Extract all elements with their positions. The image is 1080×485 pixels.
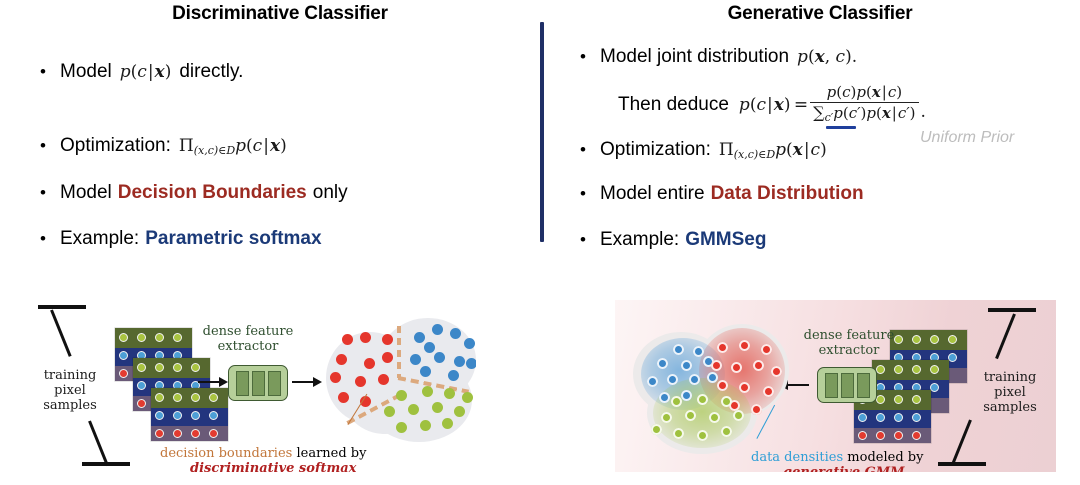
bayes-fraction: p(c)p(x|c) ∑c′p(c′)p(x|c′): [810, 84, 918, 125]
training-label: training pixel samples: [30, 368, 110, 413]
bullet-model-posterior: • Model p(c|x) directly.: [40, 60, 243, 84]
bullet-text-prefix: Example:: [60, 227, 139, 251]
extractor-label: dense feature extractor: [793, 328, 905, 358]
figure-caption-line2: generative GMM: [783, 465, 905, 472]
bullet-text-prefix: Optimization:: [60, 134, 171, 158]
bullet-text-suffix: only: [313, 181, 348, 205]
dense-feature-extractor: [228, 365, 288, 401]
bullet-decision-boundaries: • Model Decision Boundaries only: [40, 181, 348, 205]
caption-rest: modeled by: [847, 450, 923, 465]
uniform-prior-annotation: Uniform Prior: [920, 129, 1014, 147]
bullet-glyph: •: [580, 138, 600, 162]
math-bayes-rule: p(c|x) = p(c)p(x|c) ∑c′p(c′)p(x|c′) .: [739, 85, 926, 126]
slide-root: Discriminative Classifier Generative Cla…: [0, 0, 1080, 485]
bullet-example-right: • Example: GMMSeg: [580, 228, 766, 252]
bullet-then-deduce: Then deduce p(c|x) = p(c)p(x|c) ∑c′p(c′)…: [618, 85, 926, 126]
then-deduce-label: Then deduce: [618, 93, 729, 117]
bracket-bottom-slash: [88, 420, 109, 466]
bracket-top-slash: [50, 309, 72, 356]
figure-caption-line1: data densities modeled by: [751, 450, 923, 465]
bullet-glyph: •: [580, 182, 600, 206]
caption-rest: learned by: [296, 446, 366, 461]
bracket-bottom-bar: [938, 462, 986, 466]
bullet-optimization-left: • Optimization: Π(x,c)∈Dp(c|x): [40, 134, 287, 163]
figure-caption-line2: discriminative softmax: [190, 461, 356, 472]
bullet-glyph: •: [40, 134, 60, 158]
column-divider: [540, 22, 544, 242]
math-optimization-left: Π(x,c)∈Dp(c|x): [179, 134, 287, 163]
bracket-top-bar: [38, 305, 86, 309]
left-column-title: Discriminative Classifier: [80, 3, 480, 25]
bullet-glyph: •: [40, 227, 60, 251]
bullet-text-prefix: Model: [60, 60, 112, 84]
fraction-denominator: ∑c′p(c′)p(x|c′): [810, 102, 918, 125]
sample-tile-3: [151, 388, 228, 441]
math-joint: p(x, c).: [797, 45, 857, 69]
bullet-text-prefix: Optimization:: [600, 138, 711, 162]
highlight-parametric-softmax: Parametric softmax: [145, 227, 321, 251]
decision-boundary-vertical: [397, 326, 401, 378]
discriminative-softmax-figure: training pixel samples dense feature ext…: [30, 296, 476, 472]
cloud-lobe: [342, 354, 428, 434]
math-optimization-right: Π(x,c)∈Dp(x|c): [719, 138, 827, 167]
bullet-glyph: •: [40, 60, 60, 84]
arrow-into-extractor: [198, 381, 220, 383]
bullet-data-distribution: • Model entire Data Distribution: [580, 182, 864, 206]
bullet-example-left: • Example: Parametric softmax: [40, 227, 322, 251]
bullet-joint-distribution: • Model joint distribution p(x, c).: [580, 45, 857, 69]
caption-emphasis: decision boundaries: [160, 446, 292, 461]
bullet-text-prefix: Example:: [600, 228, 679, 252]
bullet-text-prefix: Model joint distribution: [600, 45, 789, 69]
bullet-text-suffix: directly.: [179, 60, 243, 84]
figure-caption-line1: decision boundaries learned by: [160, 446, 366, 461]
math-posterior: p(c|x): [120, 60, 172, 84]
arrow-out-of-extractor: [787, 384, 809, 386]
density-cloud: [625, 316, 790, 456]
feature-space-cloud: [322, 314, 476, 444]
bullet-optimization-right: • Optimization: Π(x,c)∈Dp(x|c): [580, 138, 827, 167]
bullet-text-prefix: Model entire: [600, 182, 705, 206]
uniform-prior-underline: [826, 126, 856, 129]
bullet-glyph: •: [40, 181, 60, 205]
caption-emphasis: data densities: [751, 450, 843, 465]
fraction-numerator: p(c)p(x|c): [824, 84, 905, 102]
bracket-bottom-bar: [82, 462, 130, 466]
highlight-decision-boundaries: Decision Boundaries: [118, 181, 307, 205]
right-column-title: Generative Classifier: [620, 3, 1020, 25]
highlight-data-distribution: Data Distribution: [711, 182, 864, 206]
dense-feature-extractor: [817, 367, 877, 403]
bracket-top-slash: [995, 313, 1016, 359]
generative-gmm-figure: training pixel samples dense feature ext…: [615, 300, 1056, 472]
bracket-bottom-slash: [952, 419, 972, 463]
extractor-label: dense feature extractor: [192, 324, 304, 354]
training-label: training pixel samples: [964, 370, 1056, 415]
bullet-glyph: •: [580, 45, 600, 69]
arrow-out-of-extractor: [292, 381, 314, 383]
bullet-glyph: •: [580, 228, 600, 252]
bracket-top-bar: [988, 308, 1036, 312]
highlight-gmmseg: GMMSeg: [685, 228, 766, 252]
bullet-text-prefix: Model: [60, 181, 112, 205]
